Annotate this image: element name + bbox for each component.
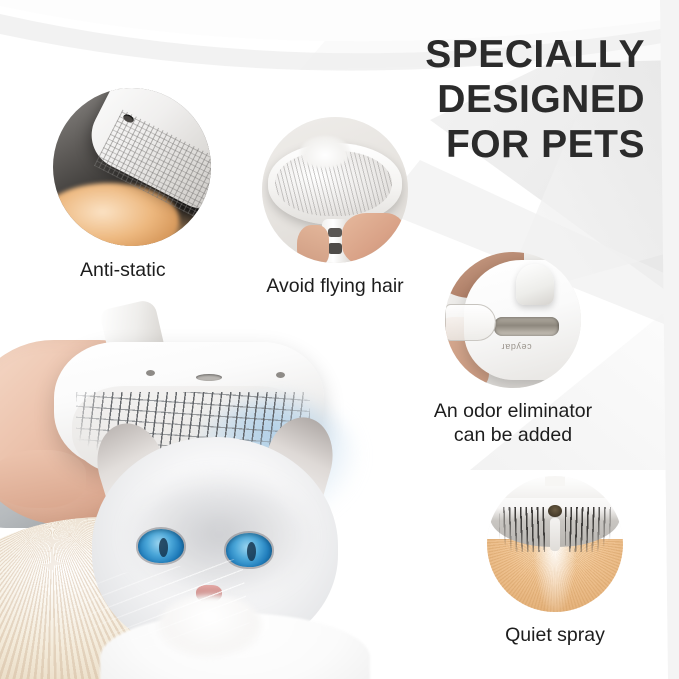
feature-anti-static: Anti-static [50, 88, 214, 283]
headline-line-1: SPECIALLY DESIGNED [425, 33, 645, 121]
odor-knob [516, 264, 554, 305]
cat-eye-left [138, 529, 184, 563]
quiet-spray-nozzle [548, 505, 562, 517]
odor-refill-port [487, 286, 510, 304]
quiet-spray-center-rib [550, 518, 560, 551]
quiet-spray-brush-tab [545, 476, 564, 486]
hero-cat-illustration [0, 425, 410, 679]
flying-hair-button-lower [328, 243, 341, 255]
product-infographic-poster: SPECIALLY DESIGNED FOR PETS [0, 0, 679, 679]
odor-tank-window [494, 317, 559, 336]
feature-image-anti-static [53, 88, 211, 246]
feature-image-avoid-flying-hair [262, 117, 408, 263]
quiet-spray-pins-right [565, 507, 611, 552]
cat-pupil-left [159, 538, 168, 557]
flying-hair-tuft [300, 136, 350, 168]
feature-caption-quiet-spray: Quiet spray [474, 624, 636, 648]
brush-vent [196, 374, 222, 381]
flying-hair-button-upper [328, 228, 341, 237]
brush-screw-left [146, 370, 155, 376]
feature-caption-avoid-flying-hair: Avoid flying hair [260, 275, 410, 299]
feature-image-quiet-spray [487, 476, 623, 612]
flying-hair-fingers [342, 213, 403, 263]
feature-image-odor-eliminator: ceydar [445, 252, 581, 388]
quiet-spray-pins-left [499, 507, 545, 552]
feature-caption-odor-eliminator: An odor eliminator can be added [432, 400, 594, 448]
flying-hair-thumb [297, 225, 329, 263]
brand-logo-text: ceydar [501, 342, 532, 352]
brush-screw-right [276, 372, 285, 378]
cat-pupil-right [247, 542, 256, 561]
feature-avoid-flying-hair: Avoid flying hair [260, 117, 410, 299]
feature-odor-eliminator: ceydar An odor eliminator can be added [432, 252, 594, 448]
feature-caption-anti-static: Anti-static [50, 259, 214, 283]
feature-quiet-spray: Quiet spray [474, 476, 636, 648]
odor-bottle [445, 304, 496, 341]
